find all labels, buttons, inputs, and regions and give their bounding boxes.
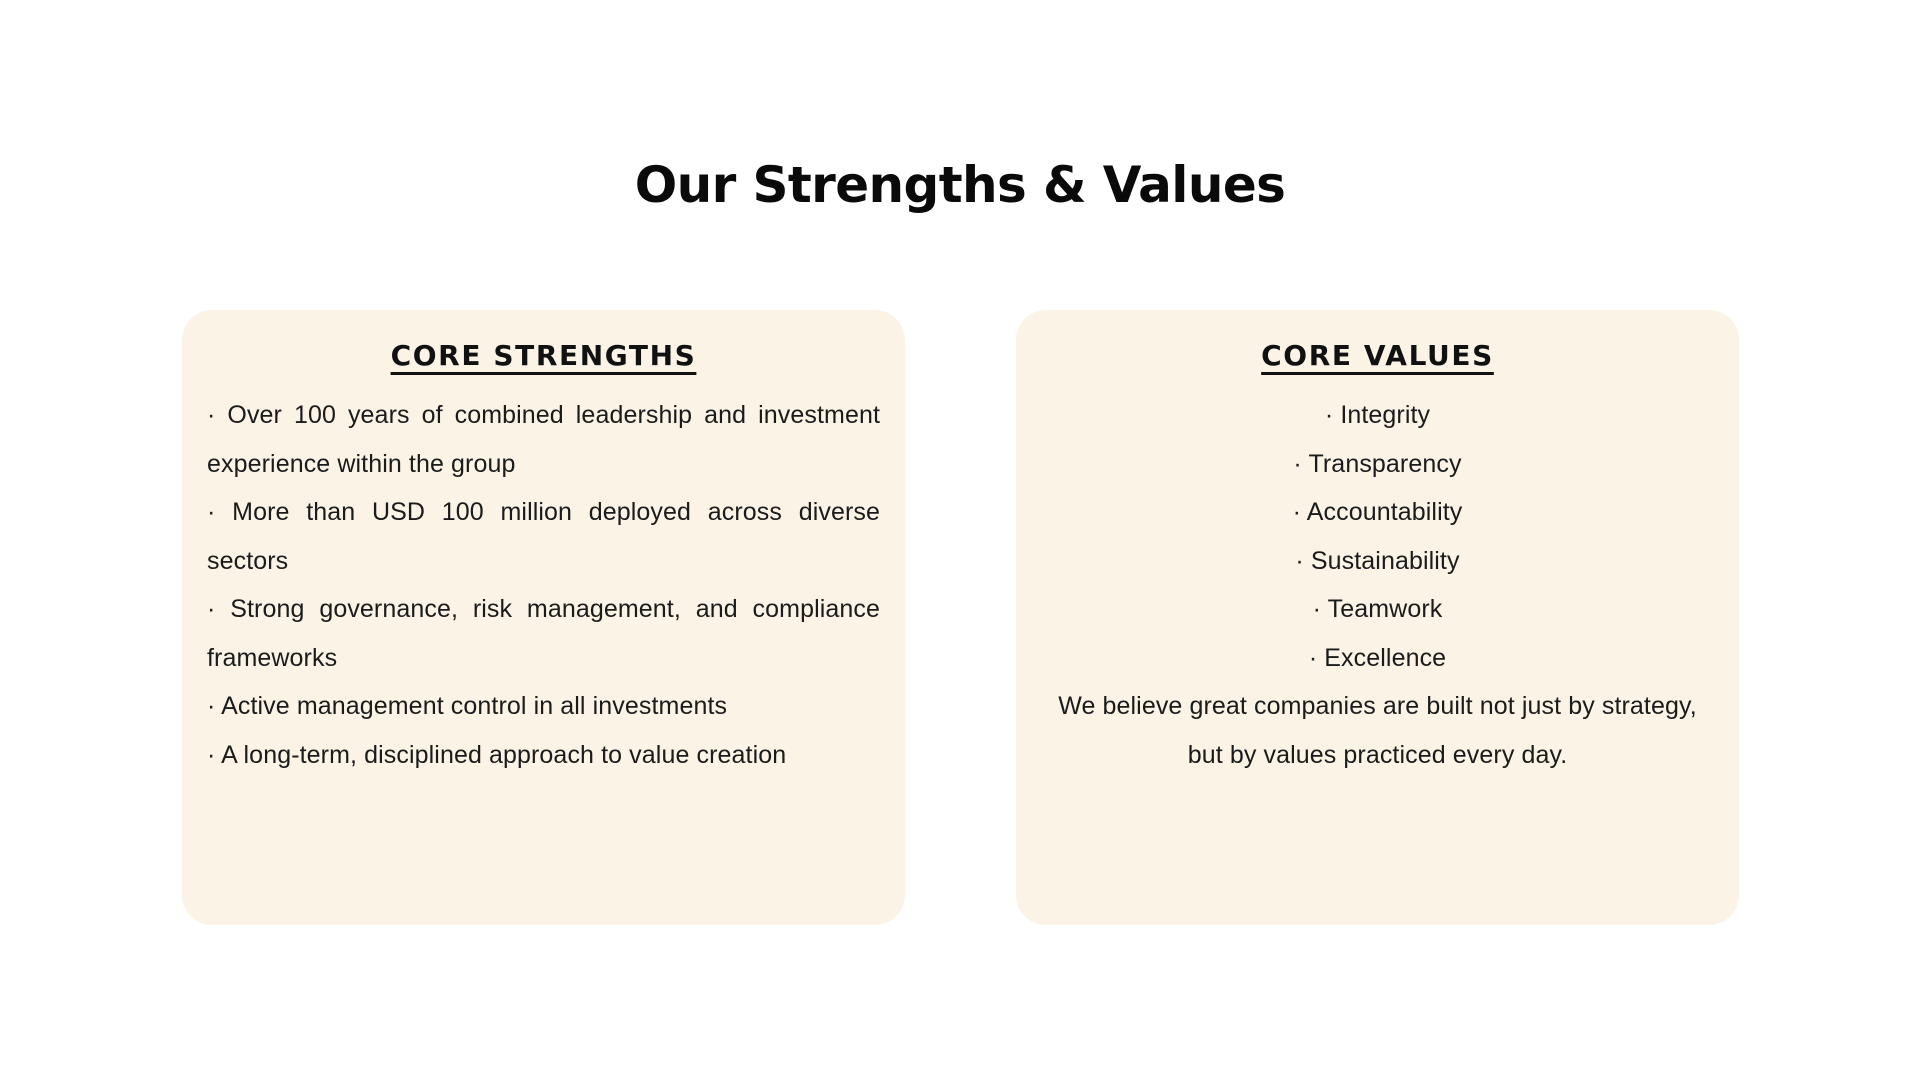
list-item: · Integrity: [1041, 391, 1714, 440]
list-item: · Over 100 years of combined leadership …: [207, 391, 880, 488]
core-values-closing-statement: We believe great companies are built not…: [1041, 682, 1714, 779]
list-item: · Excellence: [1041, 634, 1714, 683]
core-values-card: CORE VALUES · Integrity · Transparency ·…: [1016, 310, 1739, 925]
core-strengths-card: CORE STRENGTHS · Over 100 years of combi…: [182, 310, 905, 925]
list-item: · A long-term, disciplined approach to v…: [207, 731, 880, 780]
list-item: · Active management control in all inves…: [207, 682, 880, 731]
list-item: · Accountability: [1041, 488, 1714, 537]
core-values-list: · Integrity · Transparency · Accountabil…: [1041, 391, 1714, 682]
list-item: · Transparency: [1041, 440, 1714, 489]
core-strengths-heading: CORE STRENGTHS: [207, 338, 880, 373]
list-item: · Sustainability: [1041, 537, 1714, 586]
core-values-heading: CORE VALUES: [1041, 338, 1714, 373]
list-item: · Teamwork: [1041, 585, 1714, 634]
list-item: · More than USD 100 million deployed acr…: [207, 488, 880, 585]
core-strengths-list: · Over 100 years of combined leadership …: [207, 391, 880, 779]
list-item: · Strong governance, risk management, an…: [207, 585, 880, 682]
page-title: Our Strengths & Values: [0, 157, 1920, 215]
